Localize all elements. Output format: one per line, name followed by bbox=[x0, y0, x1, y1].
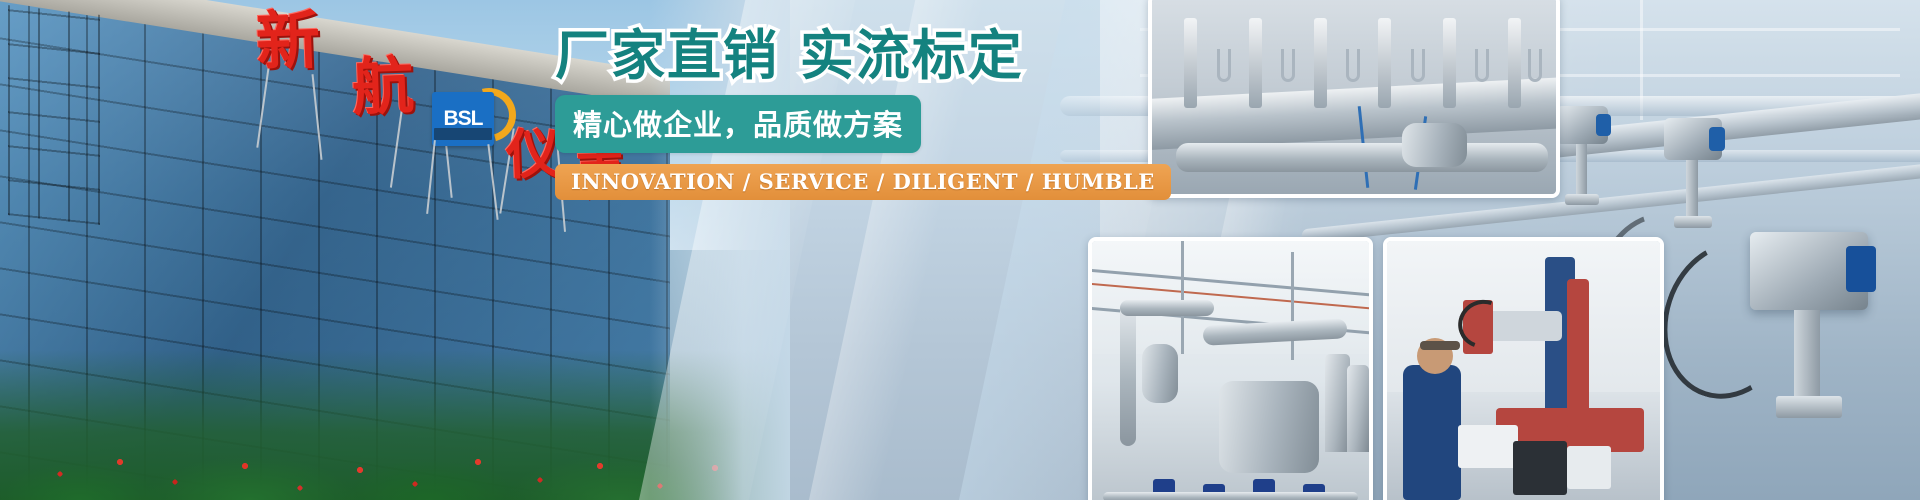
roof-sign-char-3: 仪 bbox=[505, 127, 561, 183]
banner-english-badge: INNOVATION / SERVICE / DILIGENT / HUMBLE bbox=[555, 164, 1171, 200]
photo-process-plant bbox=[1088, 237, 1373, 500]
photo-calibration-rig bbox=[1148, 0, 1560, 198]
banner-copy: 厂家直销 实流标定 精心做企业，品质做方案 INNOVATION / SERVI… bbox=[555, 28, 1025, 200]
building-corner-tower bbox=[8, 5, 100, 225]
photo-worker-machining bbox=[1383, 237, 1664, 500]
banner-headline: 厂家直销 实流标定 bbox=[555, 28, 1025, 85]
banner-subtitle-badge: 精心做企业，品质做方案 bbox=[555, 95, 921, 153]
roof-sign-char-1: 新 bbox=[255, 9, 321, 75]
landscaping-flowers bbox=[0, 404, 790, 500]
bsl-logo-subtext bbox=[434, 128, 492, 140]
promo-banner: 新 航 仪 表 BSL bbox=[0, 0, 1920, 500]
roof-sign-char-2: 航 bbox=[351, 55, 415, 119]
